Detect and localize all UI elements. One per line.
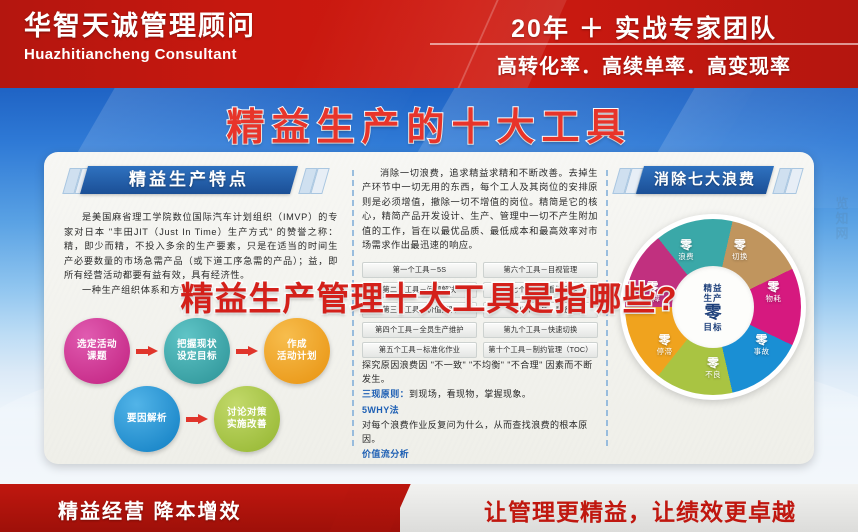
waste-segment-name: 停滞 [657,346,673,357]
flow-step-2-line1: 把握现状 [177,339,217,352]
header-slogan-block: 20年 ＋ 实战专家团队 高转化率．高续单率．高变现率 [430,0,858,88]
method-label-sangen: 三现原则： [362,389,409,399]
flow-arrow-1 [136,346,158,356]
flow-step-4[interactable]: 要因解析 [114,386,180,452]
brand-name-cn: 华智天诚管理顾问 [24,9,256,43]
center-line-3: 目标 [703,322,722,332]
flow-arrow-3 [186,414,208,424]
waste-segment-name: 切换 [732,251,748,262]
header-bar: 华智天诚管理顾问 Huazhitiancheng Consultant 20年 … [0,0,858,88]
flow-step-2[interactable]: 把握现状 设定目标 [164,318,230,384]
waste-segment-name: 不良 [705,369,721,380]
method-text-sangen: 到现场，看现物，掌握现象。 [409,389,531,399]
waste-segment-name: 事故 [754,346,770,357]
method-text-5why: 对每个浪费作业反复问为什么，从而查找浪费的根本原因。 [362,418,598,446]
flow-step-3-line1: 作成 [277,339,317,352]
waste-segment-4[interactable]: 零不良 [705,358,721,380]
tool-item-10[interactable]: 第十个工具－制约管理（TOC） [483,342,598,358]
poster-root: 华智天诚管理顾问 Huazhitiancheng Consultant 20年 … [0,0,858,532]
page-title: 精益生产的十大工具 [0,96,858,151]
right-panel-heading-text: 消除七大浪费 [640,166,770,194]
slogan-divider [430,43,858,45]
left-panel-heading: 精益生产特点 [58,166,326,194]
waste-segment-zero: 零 [678,240,694,251]
flow-step-3-line2: 活动计划 [277,351,317,364]
tool-item-9[interactable]: 第九个工具－快速切换 [483,322,598,338]
flow-step-5[interactable]: 讨论对策 实施改善 [214,386,280,452]
waste-segment-zero: 零 [657,335,673,346]
overlay-question-text: 精益生产管理十大工具是指哪些? [0,272,858,320]
waste-segment-zero: 零 [705,358,721,369]
tool-item-4[interactable]: 第四个工具－全员生产维护 [362,322,477,338]
middle-panel-methods: 探究原因浪费因 "不一致" "不均衡" "不合理" 因素而不断发生。 三现原则：… [362,358,598,464]
waste-segment-7[interactable]: 零浪费 [678,240,694,262]
waste-segment-1[interactable]: 零切换 [732,240,748,262]
slogan-experience: 20年 ＋ 实战专家团队 [430,9,858,45]
flow-step-2-line2: 设定目标 [177,351,217,364]
flow-step-1[interactable]: 选定活动 课题 [64,318,130,384]
waste-segment-3[interactable]: 零事故 [754,335,770,357]
slogan-rates: 高转化率．高续单率．高变现率 [430,50,858,79]
flow-step-1-line1: 选定活动 [77,339,117,352]
waste-segment-zero: 零 [732,240,748,251]
method-line-sangen: 三现原则：到现场，看现物，掌握现象。 [362,387,598,401]
method-line-cause: 探究原因浪费因 "不一致" "不均衡" "不合理" 因素而不断发生。 [362,358,598,386]
method-label-5why: 5WHY法 [362,403,598,417]
tool-item-5[interactable]: 第五个工具－标准化作业 [362,342,477,358]
flow-step-3[interactable]: 作成 活动计划 [264,318,330,384]
footer-bar: 精益经营 降本增效 让管理更精益，让绩效更卓越 [0,484,858,532]
waste-segment-zero: 零 [754,335,770,346]
watermark-text: 览知网 [830,196,856,241]
waste-segment-name: 浪费 [678,251,694,262]
brand-block: 华智天诚管理顾问 Huazhitiancheng Consultant [24,9,256,66]
flow-arrow-2 [236,346,258,356]
brand-name-en: Huazhitiancheng Consultant [24,44,256,66]
footer-left-slogan: 精益经营 降本增效 [58,495,242,524]
flow-step-1-line2: 课题 [77,351,117,364]
flow-step-5-line1: 讨论对策 [227,407,267,420]
pdca-flow-diagram: 选定活动 课题 把握现状 设定目标 [58,314,344,452]
table-row: 第四个工具－全员生产维护 第九个工具－快速切换 [362,322,598,338]
middle-intro-text: 消除一切浪费，追求精益求精和不断改善。去掉生产环节中一切无用的东西，每个工人及其… [362,166,598,252]
flow-step-4-line1: 要因解析 [127,413,167,426]
footer-right-slogan: 让管理更精益，让绩效更卓越 [430,493,850,527]
middle-panel-intro: 消除一切浪费，追求精益求精和不断改善。去掉生产环节中一切无用的东西，每个工人及其… [362,166,598,252]
right-panel-heading: 消除七大浪费 [616,166,802,194]
flow-step-5-line2: 实施改善 [227,419,267,432]
left-panel-heading-text: 精益生产特点 [84,166,294,194]
method-text-vsm: 鉴别在设计、订单处理、制造过程中每一个活动的价值。 [362,462,598,464]
waste-segment-5[interactable]: 零停滞 [657,335,673,357]
table-row: 第五个工具－标准化作业 第十个工具－制约管理（TOC） [362,342,598,358]
method-label-vsm: 价值流分析 [362,447,598,461]
